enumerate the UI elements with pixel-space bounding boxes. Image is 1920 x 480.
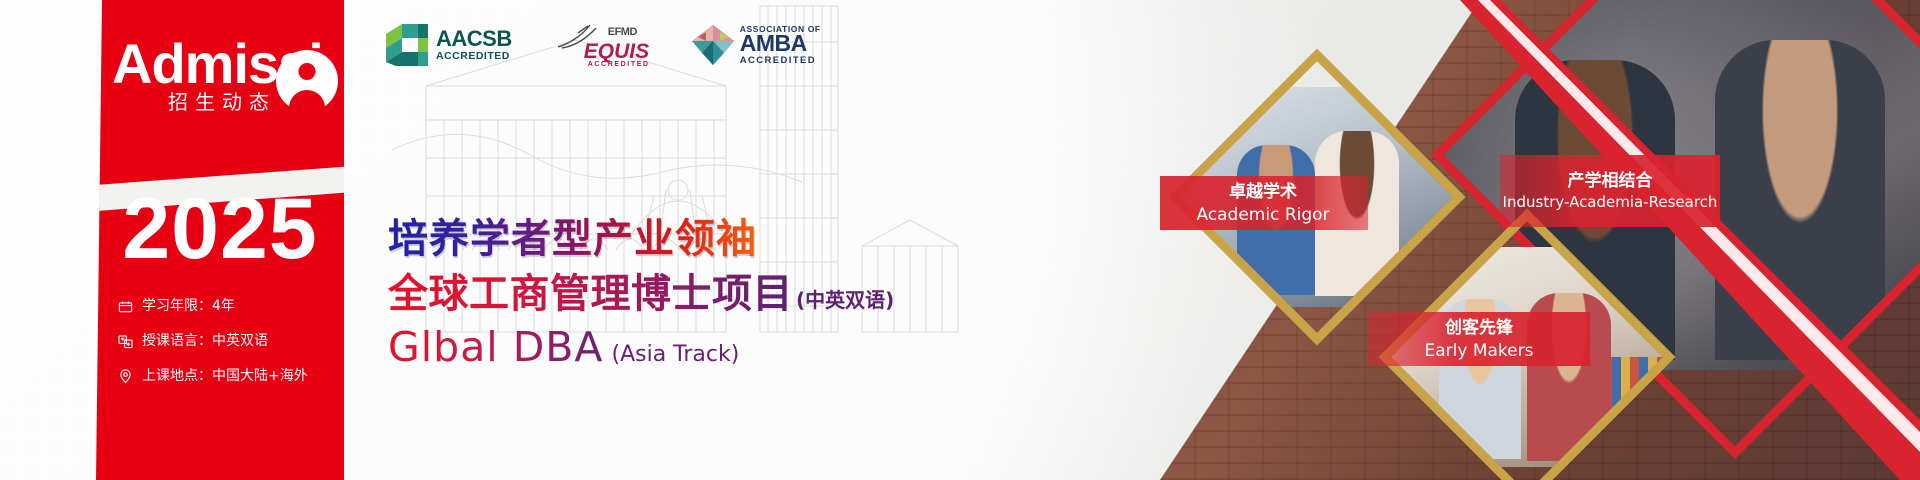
left-red-panel: Admissi 招生动态 2025 学习年限：4年 xyxy=(96,0,344,480)
equis-logo: EFMD EQUIS ACCREDITED xyxy=(556,22,648,68)
feature-label-cn: 创客先锋 xyxy=(1445,317,1513,340)
year-label: 2025 xyxy=(96,186,344,272)
headline-program-name: 全球工商管理博士项目 xyxy=(388,269,793,319)
headline-tagline: 培养学者型产业领袖 xyxy=(388,215,894,263)
headline-block: 培养学者型产业领袖 全球工商管理博士项目 (中英双语) Glbal DBA (A… xyxy=(388,215,894,371)
amba-title: AMBA xyxy=(740,32,821,55)
info-row-duration: 学习年限：4年 xyxy=(118,298,344,314)
avatar-head xyxy=(299,63,316,80)
admission-chinese-label: 招生动态 xyxy=(168,92,276,112)
amba-gem-icon xyxy=(692,25,734,65)
calendar-icon xyxy=(118,299,133,314)
efmd-label: EFMD xyxy=(608,26,637,38)
program-info-list: 学习年限：4年 授课语言：中英双语 xyxy=(118,298,344,403)
location-pin-icon xyxy=(118,369,133,384)
person-avatar-icon xyxy=(276,50,338,112)
headline-program-suffix: (中英双语) xyxy=(796,290,894,310)
amba-logo: ASSOCIATION OF AMBA ACCREDITED xyxy=(692,25,821,65)
info-row-location: 上课地点：中国大陆+海外 xyxy=(118,368,344,384)
headline-program-row: 全球工商管理博士项目 (中英双语) xyxy=(388,269,894,319)
info-text: 学习年限：4年 xyxy=(142,298,235,314)
language-icon xyxy=(118,334,133,349)
info-row-language: 授课语言：中英双语 xyxy=(118,333,344,349)
feature-label-en: Academic Rigor xyxy=(1196,204,1329,226)
feature-label-academic: 卓越学术 Academic Rigor xyxy=(1160,176,1368,230)
aacsb-mark-icon xyxy=(386,24,428,66)
headline-english-name: Glbal DBA xyxy=(388,323,603,371)
admission-banner: Admissi 招生动态 2025 学习年限：4年 xyxy=(0,0,1920,480)
admission-logo: Admissi 招生动态 xyxy=(106,30,342,126)
info-text: 授课语言：中英双语 xyxy=(142,333,268,349)
headline-english-suffix: (Asia Track) xyxy=(611,343,739,367)
equis-subtitle: ACCREDITED xyxy=(588,61,650,68)
feature-label-industry: 产学相结合 Industry-Academia-Research xyxy=(1500,155,1720,227)
aacsb-logo: AACSB ACCREDITED xyxy=(386,24,512,66)
photo-person xyxy=(1715,40,1885,360)
info-text: 上课地点：中国大陆+海外 xyxy=(142,368,308,384)
aacsb-subtitle: ACCREDITED xyxy=(436,51,512,62)
avatar-body xyxy=(289,90,325,112)
feature-label-cn: 产学相结合 xyxy=(1568,170,1653,193)
amba-subtitle: ACCREDITED xyxy=(740,56,821,66)
headline-english-row: Glbal DBA (Asia Track) xyxy=(388,323,894,371)
feature-label-en: Industry-Academia-Research xyxy=(1503,193,1718,212)
feature-label-cn: 卓越学术 xyxy=(1229,181,1297,204)
accreditation-logos: AACSB ACCREDITED EFMD EQUIS ACCREDITED xyxy=(386,22,821,68)
photo-collage: 卓越学术 Academic Rigor 产学相结合 Industry-Acade… xyxy=(1160,0,1920,480)
feature-label-makers: 创客先锋 Early Makers xyxy=(1368,312,1590,366)
aacsb-title: AACSB xyxy=(436,28,512,50)
feature-label-en: Early Makers xyxy=(1425,340,1534,362)
